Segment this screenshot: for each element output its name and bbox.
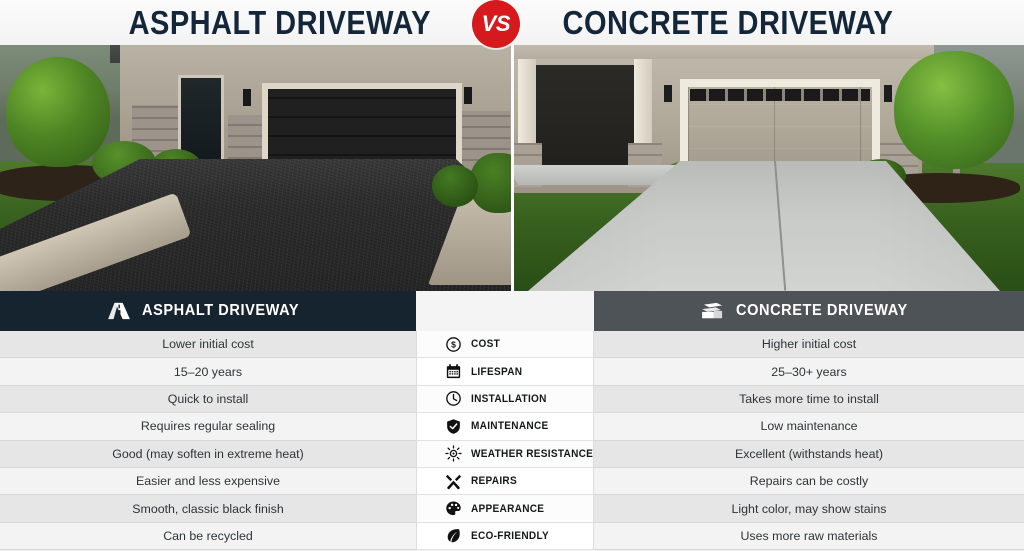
asphalt-value-cell: Easier and less expensive — [0, 468, 416, 495]
wall-lamp-icon — [243, 89, 251, 106]
dollar-circle-icon — [445, 336, 462, 353]
asphalt-value-cell: Smooth, classic black finish — [0, 495, 416, 522]
feature-cell: MAINTENANCE — [416, 413, 594, 440]
roof — [512, 45, 934, 59]
road-icon — [106, 301, 132, 321]
feature-cell: INSTALLATION — [416, 386, 594, 413]
tools-icon — [445, 473, 462, 490]
table-row: Requires regular sealingMAINTENANCELow m… — [0, 413, 1024, 440]
feature-column-header — [416, 291, 594, 331]
asphalt-value-cell: Can be recycled — [0, 523, 416, 550]
concrete-value-cell: Higher initial cost — [594, 331, 1024, 358]
concrete-blocks-icon — [700, 301, 726, 321]
table-row: Can be recycledECO-FRIENDLYUses more raw… — [0, 523, 1024, 550]
feature-cell: APPEARANCE — [416, 495, 594, 522]
leaf-icon — [445, 527, 462, 544]
sun-icon — [445, 445, 462, 462]
concrete-value-cell: Repairs can be costly — [594, 468, 1024, 495]
feature-label: MAINTENANCE — [471, 420, 548, 432]
table-header-row: ASPHALT DRIVEWAY CONCRETE DRIVEWAY — [0, 291, 1024, 331]
feature-label: APPEARANCE — [471, 503, 544, 515]
concrete-value-cell: Light color, may show stains — [594, 495, 1024, 522]
clock-icon — [445, 390, 462, 407]
asphalt-value-cell: 15–20 years — [0, 358, 416, 385]
garage-windows — [690, 89, 870, 101]
asphalt-column-header: ASPHALT DRIVEWAY — [0, 291, 416, 331]
infographic-page: ASPHALT DRIVEWAY VS CONCRETE DRIVEWAY — [0, 0, 1024, 551]
vs-label: VS — [482, 11, 510, 37]
table-row: Lower initial costCOSTHigher initial cos… — [0, 331, 1024, 358]
asphalt-value-cell: Lower initial cost — [0, 331, 416, 358]
asphalt-value-cell: Good (may soften in extreme heat) — [0, 441, 416, 468]
title-bar: ASPHALT DRIVEWAY VS CONCRETE DRIVEWAY — [0, 0, 1024, 45]
concrete-value-cell: Uses more raw materials — [594, 523, 1024, 550]
asphalt-value-cell: Quick to install — [0, 386, 416, 413]
control-joint — [774, 161, 786, 291]
tree — [6, 57, 110, 167]
feature-label: REPAIRS — [471, 475, 517, 487]
wall-lamp-icon — [464, 87, 472, 104]
asphalt-column-header-label: ASPHALT DRIVEWAY — [142, 302, 299, 320]
concrete-value-cell: Low maintenance — [594, 413, 1024, 440]
calendar-icon — [445, 363, 462, 380]
table-row: Quick to installINSTALLATIONTakes more t… — [0, 386, 1024, 413]
table-body: Lower initial costCOSTHigher initial cos… — [0, 331, 1024, 550]
feature-label: WEATHER RESISTANCE — [471, 448, 593, 460]
wall-lamp-icon — [884, 85, 892, 102]
concrete-driveway-photo — [512, 45, 1024, 291]
comparison-table: ASPHALT DRIVEWAY CONCRETE DRIVEWAY Lower… — [0, 291, 1024, 551]
table-row: Good (may soften in extreme heat)WEATHER… — [0, 441, 1024, 468]
photo-divider — [511, 45, 514, 291]
asphalt-value-cell: Requires regular sealing — [0, 413, 416, 440]
table-row: Easier and less expensiveREPAIRSRepairs … — [0, 468, 1024, 495]
tree — [894, 51, 1014, 169]
feature-cell: REPAIRS — [416, 468, 594, 495]
shield-check-icon — [445, 418, 462, 435]
asphalt-driveway-photo — [0, 45, 512, 291]
feature-cell: LIFESPAN — [416, 358, 594, 385]
feature-label: ECO-FRIENDLY — [471, 530, 549, 542]
title-right: CONCRETE DRIVEWAY — [562, 4, 893, 42]
feature-label: INSTALLATION — [471, 393, 547, 405]
feature-cell: WEATHER RESISTANCE — [416, 441, 594, 468]
title-left: ASPHALT DRIVEWAY — [129, 4, 431, 42]
concrete-column-header-label: CONCRETE DRIVEWAY — [736, 302, 908, 320]
concrete-value-cell: Takes more time to install — [594, 386, 1024, 413]
concrete-value-cell: Excellent (withstands heat) — [594, 441, 1024, 468]
concrete-column-header: CONCRETE DRIVEWAY — [594, 291, 1024, 331]
table-row: Smooth, classic black finishAPPEARANCELi… — [0, 495, 1024, 522]
feature-label: COST — [471, 338, 500, 350]
feature-cell: COST — [416, 331, 594, 358]
feature-label: LIFESPAN — [471, 366, 522, 378]
shrub — [432, 165, 478, 207]
wall-lamp-icon — [664, 85, 672, 102]
table-row: 15–20 yearsLIFESPAN25–30+ years — [0, 358, 1024, 385]
palette-icon — [445, 500, 462, 517]
concrete-value-cell: 25–30+ years — [594, 358, 1024, 385]
vs-badge: VS — [472, 0, 520, 48]
feature-cell: ECO-FRIENDLY — [416, 523, 594, 550]
